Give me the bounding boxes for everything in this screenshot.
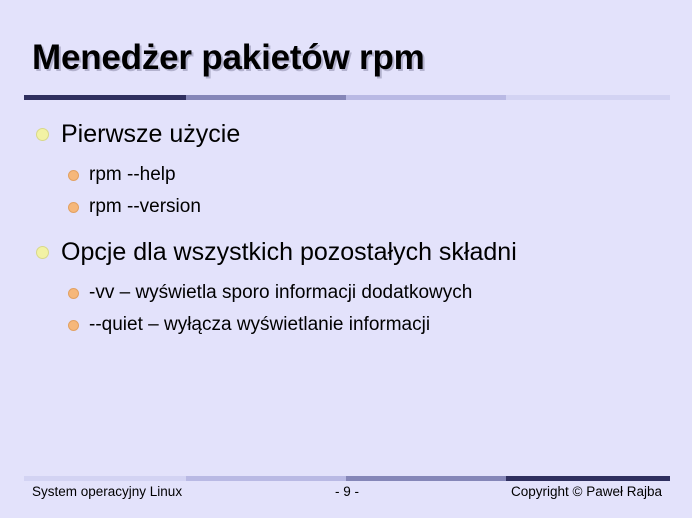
bullet-dot-icon — [36, 246, 49, 259]
list-item-label: -vv – wyświetla sporo informacji dodatko… — [89, 278, 472, 308]
rule-segment-1 — [24, 95, 186, 100]
list-item-label: rpm --version — [89, 192, 201, 222]
page-title: Menedżer pakietów rpm — [32, 38, 425, 78]
list-item: Opcje dla wszystkich pozostałych składni — [36, 234, 666, 270]
slide-canvas: Menedżer pakietów rpm Pierwsze użycie rp… — [0, 0, 692, 518]
spacer — [36, 224, 666, 234]
list-item: --quiet – wyłącza wyświetlanie informacj… — [68, 310, 666, 340]
bullet-dot-icon — [68, 320, 79, 331]
rule-segment-4 — [506, 476, 670, 481]
bullet-dot-icon — [68, 288, 79, 299]
footer-copyright: Copyright © Paweł Rajba — [511, 484, 662, 499]
list-item-label: Opcje dla wszystkich pozostałych składni — [61, 234, 517, 270]
list-item-label: Pierwsze użycie — [61, 116, 240, 152]
rule-segment-2 — [186, 95, 346, 100]
bullet-dot-icon — [68, 202, 79, 213]
rule-segment-4 — [506, 95, 670, 100]
list-item: Pierwsze użycie — [36, 116, 666, 152]
slide-body-list: Pierwsze użycie rpm --help rpm --version… — [36, 116, 666, 342]
rule-segment-3 — [346, 95, 506, 100]
title-divider-rule — [24, 95, 670, 100]
footer-divider-rule — [24, 476, 670, 481]
rule-segment-1 — [24, 476, 186, 481]
rule-segment-3 — [346, 476, 506, 481]
bullet-dot-icon — [68, 170, 79, 181]
slide-footer: System operacyjny Linux - 9 - Copyright … — [24, 484, 670, 504]
list-item: rpm --version — [68, 192, 666, 222]
list-item: rpm --help — [68, 160, 666, 190]
bullet-dot-icon — [36, 128, 49, 141]
list-item-label: --quiet – wyłącza wyświetlanie informacj… — [89, 310, 430, 340]
list-item-label: rpm --help — [89, 160, 176, 190]
list-item: -vv – wyświetla sporo informacji dodatko… — [68, 278, 666, 308]
rule-segment-2 — [186, 476, 346, 481]
